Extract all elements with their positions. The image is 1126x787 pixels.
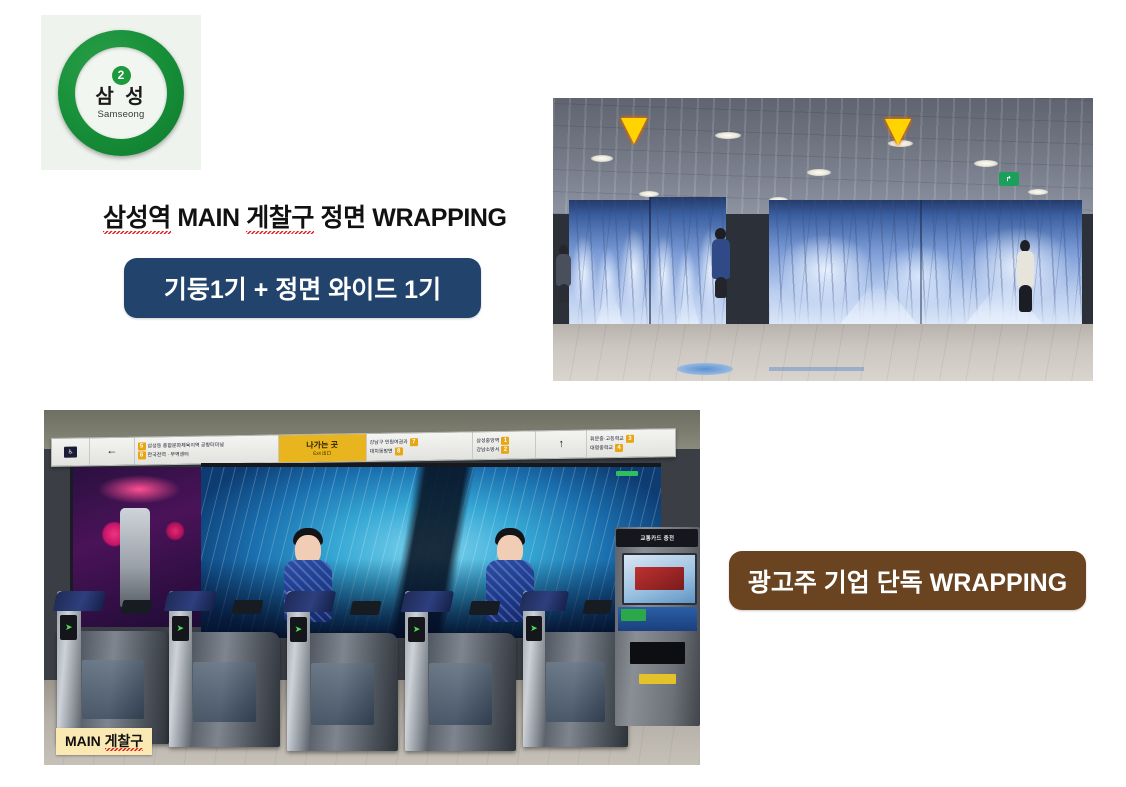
exit-label: 휘문중·고등학교 <box>590 435 624 443</box>
slide-canvas: 2 삼 성 Samseong 삼성역 MAIN 게찰구 정면 WRAPPING … <box>0 0 1126 787</box>
wheelchair-icon: ♿ <box>64 446 77 457</box>
exit-number: 1 <box>501 437 509 445</box>
card-reader[interactable] <box>120 600 152 614</box>
badge-brown-label: 광고주 기업 단독 WRAPPING <box>748 563 1067 599</box>
exit-number: 4 <box>615 444 623 452</box>
led-green-strip <box>616 471 638 476</box>
exit-number: 2 <box>501 446 509 454</box>
gate-post <box>57 591 80 744</box>
sign-row: 삼성중앙역 1 <box>476 437 509 446</box>
gate-top-cap <box>164 591 217 611</box>
exit-title-ko: 나가는 곳 <box>306 439 338 450</box>
gate-top-cap <box>53 591 106 611</box>
badge-exclusive-wrapping: 광고주 기업 단독 WRAPPING <box>729 551 1086 610</box>
sign-row: 휘문중·고등학교 3 <box>590 435 634 444</box>
marker-triangle-left <box>621 118 647 144</box>
title-part-main: MAIN <box>177 204 239 232</box>
exit-label: 삼성중앙역 <box>476 437 499 444</box>
ceiling-light <box>1028 189 1048 195</box>
exit-title-en: Exit 出口 <box>313 450 331 456</box>
floor-line <box>769 367 864 371</box>
label-main-text: MAIN <box>65 733 105 749</box>
station-name-english: Samseong <box>97 109 144 120</box>
sign-row: 대치동방면 8 <box>369 447 402 456</box>
sign-row: 5 삼성동 종합문화체육지역 공항터미널 <box>137 441 223 450</box>
emergency-exit-sign-icon: ↱ <box>999 172 1019 186</box>
gate-direction-arrow-icon: ➤ <box>60 615 77 639</box>
person-figure <box>712 228 730 298</box>
exit-label: 강남구 민원여권과 <box>369 439 407 447</box>
person-body <box>556 254 571 286</box>
arrow-up-icon: ↑ <box>558 439 564 450</box>
exit-number: 3 <box>625 435 633 443</box>
turnstile-gate[interactable]: ➤ <box>169 591 281 747</box>
label-main-gate: MAIN 게찰구 <box>56 728 152 755</box>
kiosk-screen[interactable] <box>622 553 698 605</box>
exit-label: 한국전력 · 무역센터 <box>147 451 188 459</box>
card-reader[interactable] <box>350 601 382 615</box>
photo-column-wrapping: ↱ <box>553 98 1093 381</box>
turnstile-gate[interactable]: ➤ <box>523 591 628 747</box>
sign-row: 대명중학교 4 <box>590 444 623 453</box>
gate-direction-arrow-icon: ➤ <box>526 616 542 641</box>
exit-label: 삼성동 종합문화체육지역 공항터미널 <box>147 442 223 450</box>
badge-navy-label: 기둥1기 + 정면 와이드 1기 <box>164 270 441 306</box>
sign-row: 강남소방서 2 <box>476 446 509 455</box>
station-logo-inner: 2 삼 성 Samseong <box>75 47 167 139</box>
turnstile-gate[interactable]: ➤ <box>57 591 169 744</box>
gate-post <box>405 591 428 751</box>
exit-label: 강남소방서 <box>476 446 499 453</box>
title-part-station: 삼성역 <box>103 204 171 234</box>
ceiling-light <box>591 155 613 162</box>
title-part-rest: 정면 WRAPPING <box>321 204 507 232</box>
person-body <box>1017 251 1034 287</box>
station-ceiling <box>553 98 1093 214</box>
station-floor <box>553 324 1093 381</box>
exit-label: 대치동방면 <box>369 448 392 455</box>
kiosk-card-slot[interactable] <box>630 642 685 664</box>
station-logo-ring: 2 삼 성 Samseong <box>58 30 184 156</box>
gate-post <box>287 591 310 751</box>
gate-direction-arrow-icon: ➤ <box>290 617 307 643</box>
led-column-face-left <box>569 200 650 333</box>
gate-glass-panel <box>311 663 373 724</box>
photo-main-gate-wrapping: ♿ ← 5 삼성동 종합문화체육지역 공항터미널 6 한국전력 · 무역센터 나… <box>44 410 700 765</box>
kiosk-banner-label: 교통카드 충전 <box>616 529 698 547</box>
turnstile-gate[interactable]: ➤ <box>405 591 517 751</box>
marker-triangle-right <box>885 119 911 145</box>
snow-forest-texture <box>769 200 1082 327</box>
gate-top-cap <box>282 591 335 612</box>
exit-number: 5 <box>137 442 145 450</box>
person-head <box>1020 240 1030 252</box>
exit-number: 8 <box>394 447 402 455</box>
led-panel-seam <box>920 200 922 327</box>
gate-post <box>169 591 192 747</box>
gate-glass-panel <box>429 663 491 724</box>
gate-top-cap <box>519 591 569 611</box>
card-reader[interactable] <box>232 600 264 614</box>
person-legs <box>715 277 727 298</box>
led-wide-wall <box>769 200 1082 327</box>
exit-number: 7 <box>409 438 417 446</box>
gate-post <box>523 591 545 747</box>
sign-exit-group-34: 휘문중·고등학교 3 대명중학교 4 <box>587 429 676 457</box>
badge-column-and-wide: 기둥1기 + 정면 와이드 1기 <box>124 258 481 318</box>
turnstile-gate[interactable]: ➤ <box>287 591 399 751</box>
person-legs <box>559 284 569 303</box>
station-logo: 2 삼 성 Samseong <box>41 15 201 170</box>
exit-number: 6 <box>137 451 145 459</box>
sign-pictogram: ♿ <box>52 438 90 465</box>
kiosk-yellow-strip <box>639 674 677 684</box>
sign-arrow-left: ← <box>90 438 134 465</box>
person-legs <box>1019 285 1032 312</box>
card-reader[interactable] <box>468 601 500 615</box>
gate-glass-panel <box>546 662 605 722</box>
exit-label: 대명중학교 <box>590 444 613 451</box>
station-name-korean: 삼 성 <box>95 87 146 108</box>
title-part-gate: 게찰구 <box>246 204 314 234</box>
kiosk-green-label <box>621 609 647 621</box>
label-gate-text: 게찰구 <box>105 733 144 751</box>
person-figure <box>1017 240 1034 312</box>
sign-row: 6 한국전력 · 무역센터 <box>137 451 188 460</box>
sign-arrow-up: ↑ <box>536 431 587 458</box>
sign-exit-group-left: 5 삼성동 종합문화체육지역 공항터미널 6 한국전력 · 무역센터 <box>134 435 278 464</box>
card-reader[interactable] <box>582 600 612 614</box>
person-body <box>712 239 730 279</box>
gate-top-cap <box>400 591 453 612</box>
column-edge <box>649 197 651 339</box>
subway-line-number-icon: 2 <box>112 66 131 85</box>
gate-direction-arrow-icon: ➤ <box>172 616 189 641</box>
sign-exit-title: 나가는 곳 Exit 出口 <box>278 434 366 462</box>
sign-row: 강남구 민원여권과 7 <box>369 438 417 447</box>
transit-card-kiosk[interactable]: 교통카드 충전 <box>615 527 700 726</box>
gate-glass-panel <box>82 660 144 719</box>
gate-direction-arrow-icon: ➤ <box>408 617 425 643</box>
person-figure <box>556 245 571 303</box>
ceiling-light <box>715 132 741 139</box>
arrow-left-icon: ← <box>106 446 117 457</box>
sign-exit-group-12: 삼성중앙역 1 강남소방서 2 <box>473 431 536 459</box>
page-title: 삼성역 MAIN 게찰구 정면 WRAPPING <box>103 198 507 234</box>
gate-glass-panel <box>193 662 255 722</box>
ceiling-light <box>807 169 831 176</box>
sign-exit-group-mid: 강남구 민원여권과 7 대치동방면 8 <box>366 432 473 460</box>
